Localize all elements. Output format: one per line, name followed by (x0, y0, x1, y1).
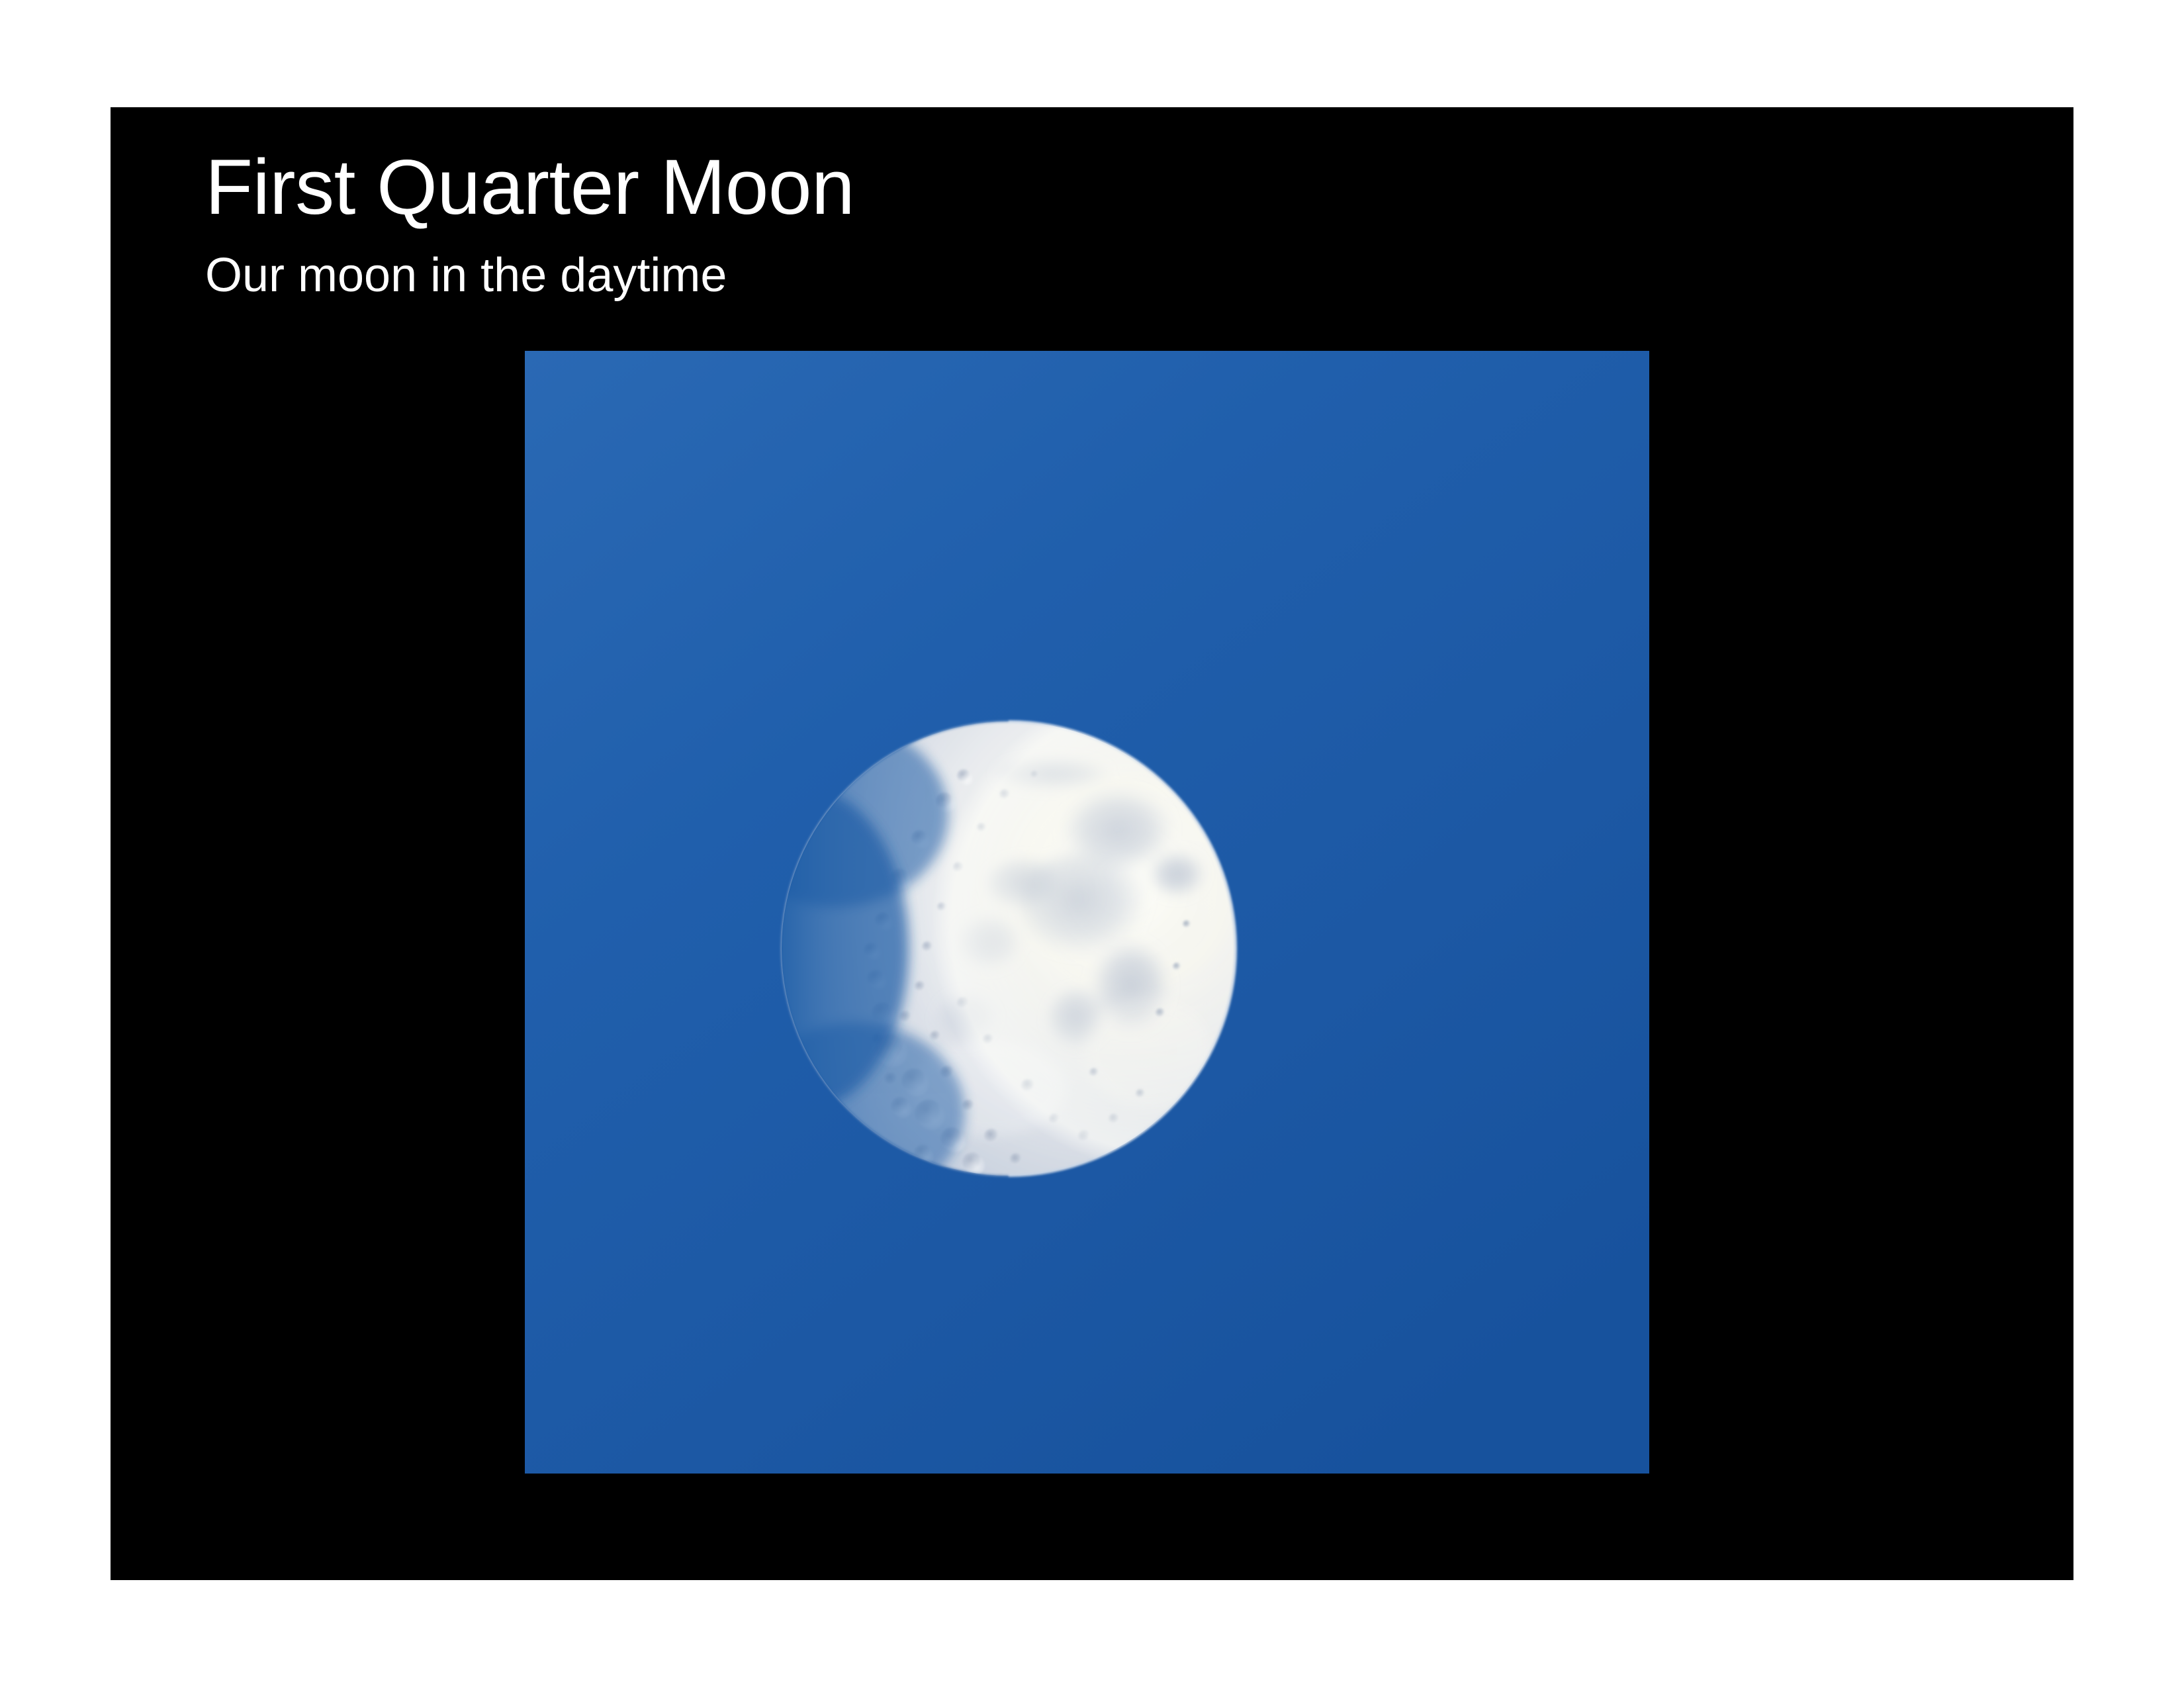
page-title: First Quarter Moon (205, 148, 1926, 226)
presentation-slide: First Quarter Moon Our moon in the dayti… (111, 107, 2073, 1580)
moon-photo-graphic (525, 351, 1649, 1474)
title-block: First Quarter Moon Our moon in the dayti… (205, 148, 1926, 299)
page-subtitle: Our moon in the daytime (205, 252, 1926, 299)
page-canvas: First Quarter Moon Our moon in the dayti… (0, 0, 2184, 1688)
moon-photo (525, 351, 1649, 1474)
